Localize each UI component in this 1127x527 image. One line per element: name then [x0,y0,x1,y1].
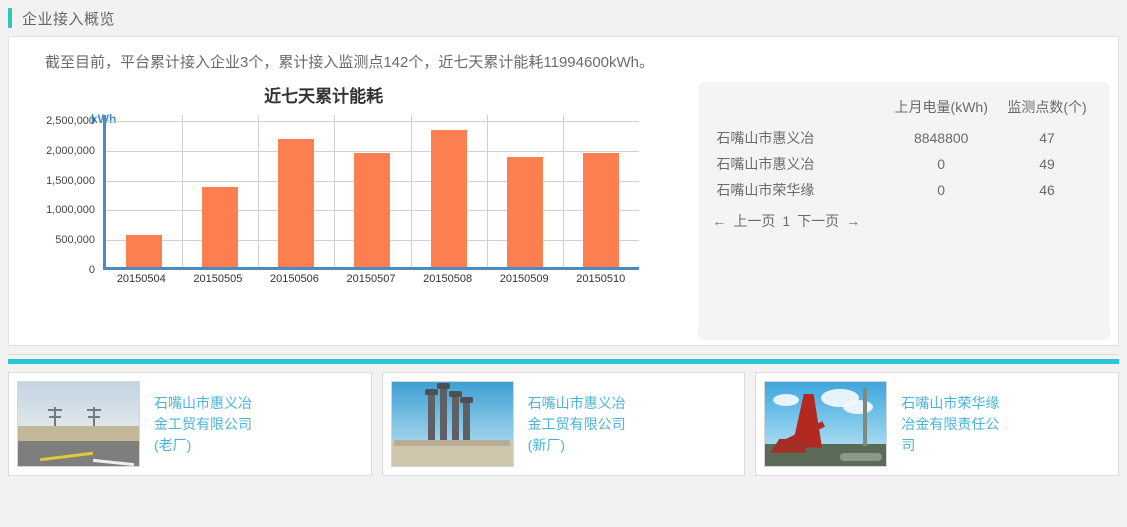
chart-y-axis: 0500,0001,000,0001,500,0002,000,0002,500… [37,115,99,270]
cell-last-month-energy: 0 [884,177,998,203]
card-label-line2: 金工贸有限公司 [154,414,252,435]
x-axis-tick-label: 20150509 [486,273,563,285]
cell-last-month-energy: 8848800 [884,125,998,151]
x-axis-tick-label: 20150506 [256,273,333,285]
y-axis-tick-label: 2,500,000 [46,115,95,127]
table-body: 石嘴山市惠义冶884880047石嘴山市惠义冶049石嘴山市荣华缘046 [712,125,1096,203]
chart-bars [106,115,639,267]
x-axis-tick-label: 20150510 [562,273,639,285]
y-axis-tick-label: 0 [89,264,95,276]
industrial-plant-photo [391,381,514,467]
road-powerline-photo [17,381,140,467]
pagination: ← 上一页 1 下一页 → [712,211,1096,231]
prev-page-button[interactable]: 上一页 [733,211,775,231]
cell-enterprise-name: 石嘴山市惠义冶 [712,151,884,177]
chart-bar[interactable] [202,187,238,267]
mining-structure-photo [764,381,887,467]
cell-monitor-point-count: 49 [998,151,1096,177]
chart-plot-area: 0500,0001,000,0001,500,0002,000,0002,500… [37,115,639,295]
card-label-line3: (新厂) [528,435,626,456]
y-axis-tick-label: 1,500,000 [46,175,95,187]
header-accent-bar [8,8,12,28]
column-header-points: 监测点数(个) [998,94,1096,125]
card-label-line1: 石嘴山市惠义冶 [528,393,626,414]
next-arrow-icon[interactable]: → [846,213,860,229]
column-header-last-month: 上月电量(kWh) [884,94,998,125]
x-axis-tick-label: 20150507 [333,273,410,285]
card-label-line2: 金工贸有限公司 [528,414,626,435]
chart-bar-slot [411,115,487,267]
enterprise-card-old-plant[interactable]: 石嘴山市惠义冶 金工贸有限公司 (老厂) [8,372,372,476]
table-row[interactable]: 石嘴山市荣华缘046 [712,177,1096,203]
cell-enterprise-name: 石嘴山市荣华缘 [712,177,884,203]
chart-bar[interactable] [431,130,467,267]
chart-title: 近七天累计能耗 [0,82,698,107]
chart-x-axis: 2015050420150505201505062015050720150508… [103,273,639,285]
x-axis-tick-label: 20150504 [103,273,180,285]
divider-hairline [8,354,1119,355]
enterprise-cards: 石嘴山市惠义冶 金工贸有限公司 (老厂) 石嘴山市惠义冶 金工贸有限公司 (新厂… [0,364,1127,476]
prev-arrow-icon[interactable]: ← [712,213,726,229]
enterprise-card-label: 石嘴山市惠义冶 金工贸有限公司 (老厂) [154,393,252,456]
enterprise-card-label: 石嘴山市荣华缘 冶金有限责任公 司 [901,393,999,456]
energy-chart: 近七天累计能耗 kWh 0500,0001,000,0001,500,0002,… [9,76,698,340]
enterprise-stats-panel: 上月电量(kWh) 监测点数(个) 石嘴山市惠义冶884880047石嘴山市惠义… [698,82,1110,340]
card-label-line3: (老厂) [154,435,252,456]
y-axis-tick-label: 1,000,000 [46,204,95,216]
x-axis-tick-label: 20150508 [409,273,486,285]
chart-bar[interactable] [126,235,162,267]
chart-bar[interactable] [583,153,619,267]
table-row[interactable]: 石嘴山市惠义冶884880047 [712,125,1096,151]
card-label-line1: 石嘴山市惠义冶 [154,393,252,414]
current-page-number[interactable]: 1 [782,213,790,229]
table-row[interactable]: 石嘴山市惠义冶049 [712,151,1096,177]
chart-bar-slot [487,115,563,267]
chart-bar-slot [106,115,182,267]
enterprise-card-ronghuayuan[interactable]: 石嘴山市荣华缘 冶金有限责任公 司 [755,372,1119,476]
y-axis-tick-label: 2,000,000 [46,145,95,157]
enterprise-card-new-plant[interactable]: 石嘴山市惠义冶 金工贸有限公司 (新厂) [382,372,746,476]
cell-monitor-point-count: 47 [998,125,1096,151]
chart-bar-slot [182,115,258,267]
card-label-line1: 石嘴山市荣华缘 [901,393,999,414]
next-page-button[interactable]: 下一页 [797,211,839,231]
cell-last-month-energy: 0 [884,151,998,177]
chart-bar[interactable] [507,157,543,267]
overview-panel: 截至目前，平台累计接入企业3个，累计接入监测点142个，近七天累计能耗11994… [8,36,1119,346]
column-header-name [712,94,884,125]
y-axis-tick-label: 500,000 [55,234,95,246]
chart-bar-slot [563,115,639,267]
page-header: 企业接入概览 [0,0,1127,36]
table-header-row: 上月电量(kWh) 监测点数(个) [712,94,1096,125]
enterprise-card-label: 石嘴山市惠义冶 金工贸有限公司 (新厂) [528,393,626,456]
section-divider [0,346,1127,364]
page-title: 企业接入概览 [22,8,115,29]
chart-bar[interactable] [354,153,390,267]
panel-body: 近七天累计能耗 kWh 0500,0001,000,0001,500,0002,… [9,76,1118,340]
chart-bar-slot [258,115,334,267]
card-label-line2: 冶金有限责任公 [901,414,999,435]
cell-enterprise-name: 石嘴山市惠义冶 [712,125,884,151]
chart-bar-slot [334,115,410,267]
cell-monitor-point-count: 46 [998,177,1096,203]
card-label-line3: 司 [901,435,999,456]
chart-bar[interactable] [278,139,314,267]
summary-text: 截至目前，平台累计接入企业3个，累计接入监测点142个，近七天累计能耗11994… [9,37,1118,72]
enterprise-stats-table: 上月电量(kWh) 监测点数(个) 石嘴山市惠义冶884880047石嘴山市惠义… [712,94,1096,203]
x-axis-tick-label: 20150505 [180,273,257,285]
chart-grid [103,115,639,270]
